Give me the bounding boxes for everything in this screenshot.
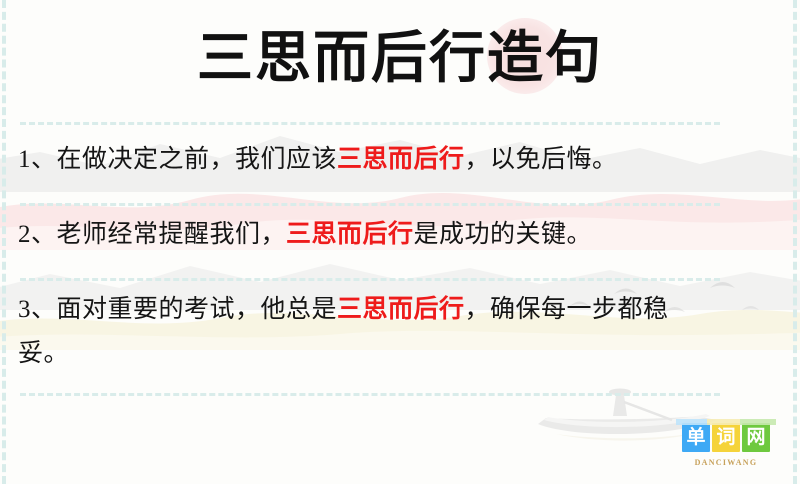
divider-2 <box>20 278 720 281</box>
sentence-text-after: 是成功的关键。 <box>414 221 593 248</box>
sentence-index: 3、 <box>18 296 57 323</box>
sentence-index: 1、 <box>18 146 57 173</box>
page-title: 三思而后行造句 <box>0 24 800 94</box>
logo-caption: DANCIWANG <box>676 458 776 467</box>
logo-char-3: 网 <box>742 423 770 452</box>
divider-1 <box>20 203 720 206</box>
site-logo[interactable]: 单 词 网 DANCIWANG <box>676 423 776 475</box>
sentence-text-before: 面对重要的考试，他总是 <box>57 296 338 323</box>
sentence-text-before: 老师经常提醒我们， <box>57 221 287 248</box>
logo-character-blocks: 单 词 网 <box>680 423 772 455</box>
divider-top <box>20 122 720 125</box>
idiom-example-card: 三思而后行造句 1、在做决定之前，我们应该三思而后行，以免后悔。 2、老师经常提… <box>0 0 800 484</box>
logo-char-1: 单 <box>682 423 710 452</box>
logo-char-2: 词 <box>712 423 740 452</box>
idiom-highlight: 三思而后行 <box>337 146 465 173</box>
idiom-highlight: 三思而后行 <box>337 296 465 323</box>
sentence-index: 2、 <box>18 221 57 248</box>
sentence-text-before: 在做决定之前，我们应该 <box>57 146 338 173</box>
list-item: 3、面对重要的考试，他总是三思而后行，确保每一步都稳妥。 <box>18 288 718 376</box>
divider-bottom <box>20 393 720 396</box>
list-item: 1、在做决定之前，我们应该三思而后行，以免后悔。 <box>18 138 718 182</box>
list-item: 2、老师经常提醒我们，三思而后行是成功的关键。 <box>18 213 718 257</box>
idiom-highlight: 三思而后行 <box>286 221 414 248</box>
sentence-text-after: ，以免后悔。 <box>465 146 618 173</box>
